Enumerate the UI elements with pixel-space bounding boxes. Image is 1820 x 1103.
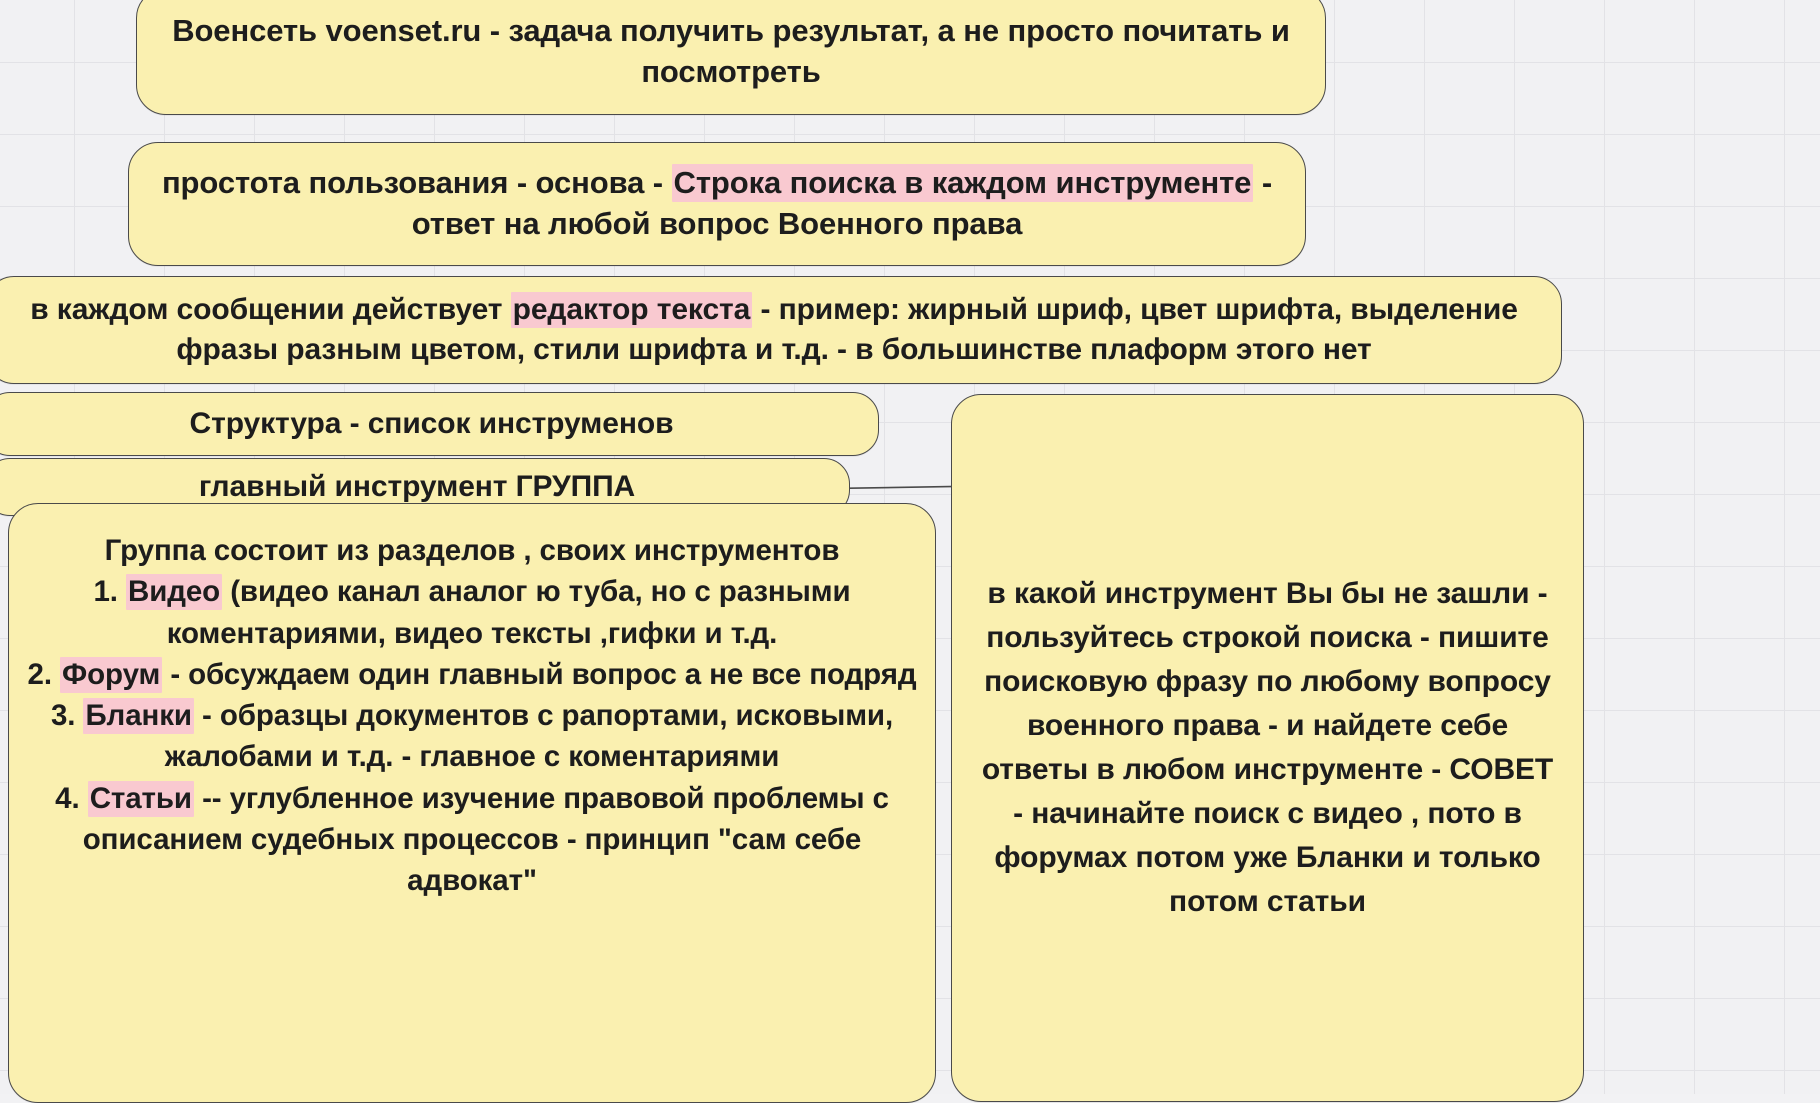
text-editor-text-before: в каждом сообщении действует: [30, 293, 510, 326]
list-item-highlight: Статьи: [88, 781, 194, 817]
list-item-rest: -- углубленное изучение правовой проблем…: [83, 782, 889, 898]
text-editor-card[interactable]: в каждом сообщении действует редактор те…: [0, 276, 1562, 384]
list-item-rest: - образцы документов с рапортами, исковы…: [165, 699, 893, 773]
list-item: 3. Бланки - образцы документов с рапорта…: [51, 698, 893, 773]
text-editor-highlight: редактор текста: [511, 292, 753, 328]
simplicity-card[interactable]: простота пользования - основа - Строка п…: [128, 142, 1306, 266]
list-item-rest: (видео канал аналог ю туба, но с разными…: [167, 575, 851, 649]
list-item: 4. Статьи -- углубленное изучение правов…: [55, 781, 889, 898]
list-item-highlight: Бланки: [83, 698, 193, 734]
text-editor-text: в каждом сообщении действует редактор те…: [5, 290, 1543, 369]
list-item: 1. Видео (видео канал аналог ю туба, но …: [93, 574, 850, 649]
group-detail-card[interactable]: Группа состоит из разделов , своих инстр…: [8, 503, 936, 1103]
list-item-rest: - обсуждаем один главный вопрос а не все…: [162, 658, 916, 691]
group-detail-text: Группа состоит из разделов , своих инстр…: [25, 530, 919, 902]
list-item-highlight: Видео: [126, 574, 222, 610]
structure-card[interactable]: Структура - список инструменов: [0, 392, 879, 456]
group-detail-intro: Группа состоит из разделов , своих инстр…: [105, 534, 840, 567]
list-item-number: 1.: [93, 575, 117, 608]
simplicity-text-before: простота пользования - основа -: [162, 165, 672, 200]
list-item-highlight: Форум: [60, 657, 162, 693]
simplicity-highlight: Строка поиска в каждом инструменте: [672, 164, 1254, 202]
search-advice-text: в какой инструмент Вы бы не зашли - поль…: [978, 572, 1557, 925]
list-item-number: 2.: [28, 658, 52, 691]
mindmap-canvas[interactable]: Военсеть voenset.ru - задача получить ре…: [0, 0, 1820, 1094]
structure-text: Структура - список инструменов: [11, 404, 852, 444]
list-item: 2. Форум - обсуждаем один главный вопрос…: [28, 657, 917, 693]
main-tool-group-text: главный инструмент ГРУППА: [11, 467, 823, 507]
simplicity-text: простота пользования - основа - Строка п…: [155, 163, 1279, 245]
search-advice-card[interactable]: в какой инструмент Вы бы не зашли - поль…: [951, 394, 1584, 1102]
voenset-title-text: Военсеть voenset.ru - задача получить ре…: [163, 11, 1299, 93]
list-item-number: 4.: [55, 782, 79, 815]
list-item-number: 3.: [51, 699, 75, 732]
voenset-title-card[interactable]: Военсеть voenset.ru - задача получить ре…: [136, 0, 1326, 115]
